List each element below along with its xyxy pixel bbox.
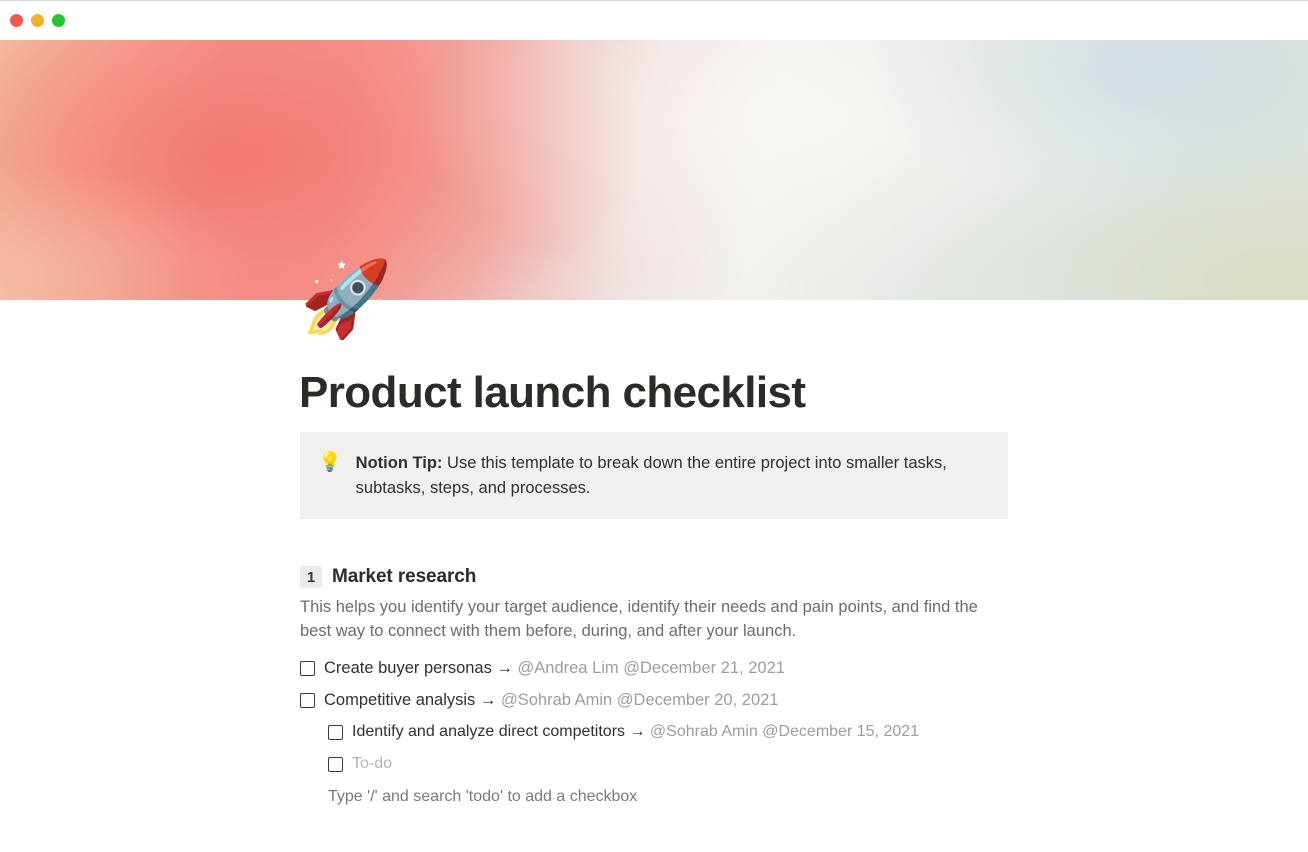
person-mention[interactable]: @Sohrab Amin [650,723,758,740]
close-button[interactable] [10,14,23,27]
todo-label[interactable]: Competitive analysis → @Sohrab Amin @Dec… [324,691,779,710]
todo-checkbox[interactable] [300,661,315,676]
todo-text: Create buyer personas [324,659,492,677]
arrow-icon: → [625,723,650,740]
maximize-button[interactable] [52,14,65,27]
todo-item[interactable]: Create buyer personas → @Andrea Lim @Dec… [300,652,1020,684]
arrow-icon: → [492,659,518,677]
rocket-emoji[interactable]: 🚀 [300,258,382,340]
person-mention[interactable]: @Andrea Lim [518,659,619,677]
date-mention[interactable]: @December 21, 2021 [623,659,785,677]
window-title-bar [0,0,1308,40]
todo-text: Competitive analysis [324,691,475,709]
window-controls [10,14,65,27]
todo-checkbox[interactable] [328,725,343,740]
todo-hint-text: Type '/' and search 'todo' to add a chec… [300,788,1020,806]
section-description: This helps you identify your target audi… [300,596,984,643]
todo-item[interactable]: To-do [300,748,1020,780]
page-title[interactable]: Product launch checklist [299,368,1099,418]
todo-text: Identify and analyze direct competitors [352,723,625,740]
todo-checkbox[interactable] [300,693,315,708]
callout-body: Use this template to break down the enti… [356,454,947,497]
section-market-research: 1 Market research This helps you identif… [300,566,1020,806]
section-heading: 1 Market research [300,566,1020,588]
todo-list: Create buyer personas → @Andrea Lim @Dec… [300,652,1020,780]
light-bulb-icon: 💡 [318,451,342,475]
notion-tip-callout[interactable]: 💡 Notion Tip: Use this template to break… [300,432,1008,519]
todo-label[interactable]: Create buyer personas → @Andrea Lim @Dec… [324,659,785,678]
arrow-icon: → [475,691,501,709]
todo-text: To-do [352,755,392,772]
date-mention[interactable]: @December 20, 2021 [617,691,779,709]
section-number-badge: 1 [300,566,322,588]
date-mention[interactable]: @December 15, 2021 [762,723,919,740]
page-body: 🚀 Product launch checklist 💡 Notion Tip:… [0,300,1308,852]
section-title[interactable]: Market research [332,566,476,588]
todo-item[interactable]: Competitive analysis → @Sohrab Amin @Dec… [300,684,1020,716]
todo-checkbox[interactable] [328,757,343,772]
cover-gradient-peach [0,40,1308,300]
todo-label[interactable]: Identify and analyze direct competitors … [352,723,919,741]
cover-image[interactable] [0,40,1308,300]
todo-label[interactable]: To-do [352,755,392,773]
person-mention[interactable]: @Sohrab Amin [501,691,612,709]
callout-text: Notion Tip: Use this template to break d… [356,451,992,500]
todo-item[interactable]: Identify and analyze direct competitors … [300,716,1020,748]
minimize-button[interactable] [31,14,44,27]
callout-label: Notion Tip: [356,454,443,472]
